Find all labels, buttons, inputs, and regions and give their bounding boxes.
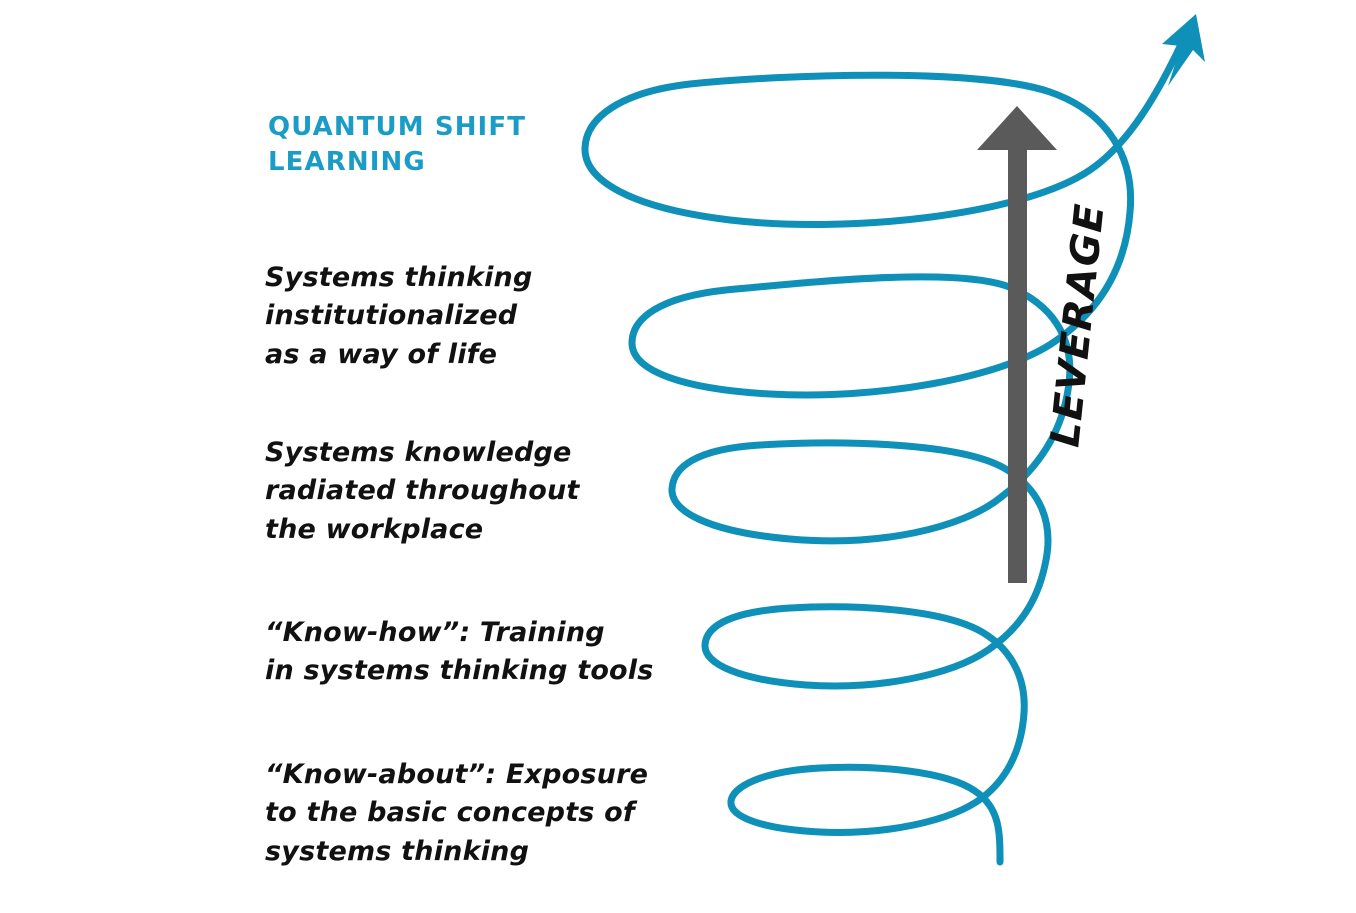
- stage-label-quantum-shift-learning: QUANTUM SHIFT LEARNING: [268, 110, 526, 180]
- spiral-path-group: [585, 36, 1185, 862]
- spiral-helix-path: [585, 36, 1185, 862]
- stage-label-know-about-exposure: “Know-about”: Exposure to the basic conc…: [265, 756, 648, 871]
- stage-label-systems-thinking-institutionalized: Systems thinking institutionalized as a …: [265, 259, 533, 374]
- stage-label-know-how-training: “Know-how”: Training in systems thinking…: [265, 614, 654, 691]
- diagram-canvas: QUANTUM SHIFT LEARNING Systems thinking …: [0, 0, 1356, 913]
- spiral-diagram-svg: [0, 0, 1356, 913]
- stage-label-systems-knowledge-radiated: Systems knowledge radiated throughout th…: [265, 434, 580, 549]
